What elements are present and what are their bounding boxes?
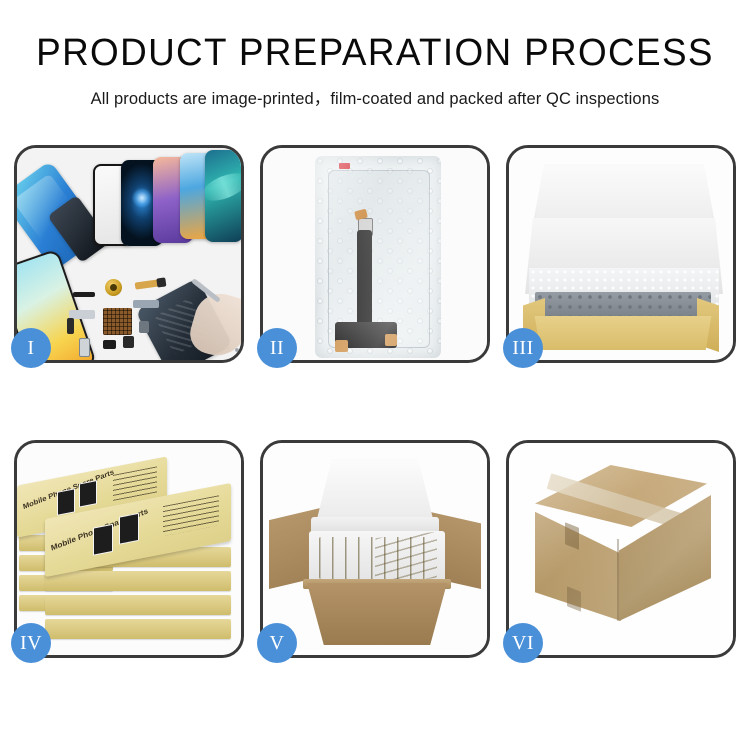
box-side-icon: [45, 595, 231, 615]
bubble-wrap-icon: [315, 156, 441, 358]
header: PRODUCT PREPARATION PROCESS All products…: [0, 0, 750, 109]
small-chip-part-icon: [103, 340, 116, 349]
box-art-screen-icon: [119, 513, 139, 545]
process-step-panel-1: I: [14, 145, 244, 363]
small-chip-part-icon: [123, 336, 134, 348]
photo-sealed-shipping-carton: [509, 443, 733, 655]
box-art-screen-icon: [57, 488, 75, 515]
speaker-part-icon: [73, 292, 95, 297]
phone-teal-swirl-icon: [205, 150, 241, 242]
step-badge-6: VI: [503, 623, 543, 663]
box-spec-lines-icon: [113, 466, 157, 501]
flex-cable-part-icon: [133, 300, 159, 308]
box-lid-back-icon: [533, 164, 715, 224]
box-art-screen-icon: [79, 480, 97, 507]
vibration-motor-part-icon: [105, 279, 122, 296]
box-side-icon: [45, 571, 231, 591]
flex-cable-part-icon: [135, 279, 160, 289]
plastic-sheen-overlay: [315, 156, 441, 358]
box-side-icon: [45, 619, 231, 639]
photo-bubble-wrapped-screen: [263, 148, 487, 360]
carton-body-icon: [307, 583, 447, 645]
photo-carton-with-foam-box: [263, 443, 487, 655]
process-step-panel-3: III: [506, 145, 736, 363]
box-tray-front-icon: [529, 316, 717, 350]
step-badge-2: II: [257, 328, 297, 368]
process-step-grid: I II III: [14, 145, 736, 658]
inner-kraft-boxes-icon: [375, 532, 437, 585]
process-step-panel-5: V: [260, 440, 490, 658]
box-art-screen-icon: [93, 524, 113, 556]
connector-grid-part-icon: [103, 308, 132, 335]
step-badge-1: I: [11, 328, 51, 368]
process-step-panel-2: II: [260, 145, 490, 363]
process-step-panel-6: VI: [506, 440, 736, 658]
small-chip-part-icon: [139, 321, 149, 333]
photo-foam-lined-kraft-box: [509, 148, 733, 360]
page-title: PRODUCT PREPARATION PROCESS: [11, 34, 739, 72]
box-spec-lines-icon: [163, 495, 219, 536]
carton-corner-seam-icon: [617, 539, 619, 621]
page-subtitle: All products are image-printed，film-coat…: [0, 85, 750, 109]
step-badge-5: V: [257, 623, 297, 663]
sim-tray-part-icon: [79, 338, 90, 357]
process-step-panel-4: Mobile Phone Spare Parts Mobile Phone Sp…: [14, 440, 244, 658]
photo-phone-parts-overview: [17, 148, 241, 360]
step-badge-4: IV: [11, 623, 51, 663]
flex-cable-part-icon: [69, 310, 95, 319]
step-badge-3: III: [503, 328, 543, 368]
photo-stacked-retail-boxes: Mobile Phone Spare Parts Mobile Phone Sp…: [17, 443, 241, 655]
carton-tab-icon: [567, 586, 581, 612]
